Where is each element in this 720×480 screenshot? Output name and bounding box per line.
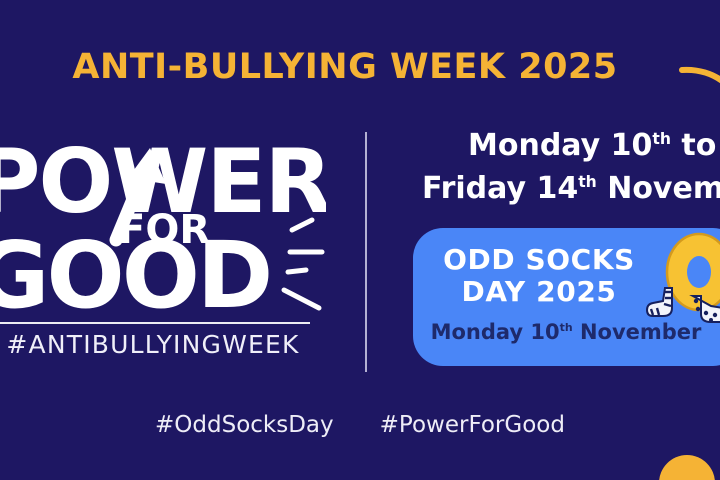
odd-socks-ring-icon <box>645 230 720 326</box>
page-title: ANTI-BULLYING WEEK 2025 <box>0 47 690 87</box>
power-for-good-wordmark: POWER FOR GOOD <box>0 112 326 317</box>
odd-socks-day-card[interactable]: ODD SOCKS DAY 2025 Monday 10th November <box>413 228 720 366</box>
svg-text:GOOD: GOOD <box>0 222 270 317</box>
dates-line1-suffix: to <box>671 128 716 163</box>
odd-socks-date-ordinal: th <box>560 321 573 334</box>
hashtag-power-for-good[interactable]: #PowerForGood <box>380 412 565 438</box>
logo-hashtag: #ANTIBULLYINGWEEK <box>0 330 318 359</box>
vertical-divider <box>365 132 367 372</box>
hashtag-row: #OddSocksDay #PowerForGood <box>0 412 720 438</box>
campaign-dates-line-1: Monday 10th to <box>396 124 720 167</box>
dates-line2-suffix: November <box>597 171 720 206</box>
dates-line1-ordinal: th <box>652 130 671 148</box>
logo-underline-rule <box>0 322 310 324</box>
yellow-circle-decoration <box>659 455 715 480</box>
striped-sock-icon <box>647 288 672 316</box>
odd-socks-title-line-2: DAY 2025 <box>413 276 665 308</box>
dates-line1-prefix: Monday 10 <box>468 128 652 163</box>
odd-socks-title-line-1: ODD SOCKS <box>413 244 665 276</box>
anti-bullying-week-banner: ANTI-BULLYING WEEK 2025 POWER <box>0 0 720 480</box>
campaign-dates-line-2: Friday 14th November <box>396 167 720 210</box>
hashtag-odd-socks-day[interactable]: #OddSocksDay <box>155 412 334 438</box>
dates-line2-ordinal: th <box>578 173 597 191</box>
dates-line2-prefix: Friday 14 <box>422 171 578 206</box>
power-for-good-logo: POWER FOR GOOD #ANTIBULLYINGWEEK <box>0 112 326 370</box>
odd-socks-date-prefix: Monday 10 <box>431 320 560 344</box>
odd-socks-day-title: ODD SOCKS DAY 2025 <box>413 244 665 308</box>
campaign-dates: Monday 10th to Friday 14th November <box>396 124 720 210</box>
sunburst-rays-icon <box>284 220 322 308</box>
